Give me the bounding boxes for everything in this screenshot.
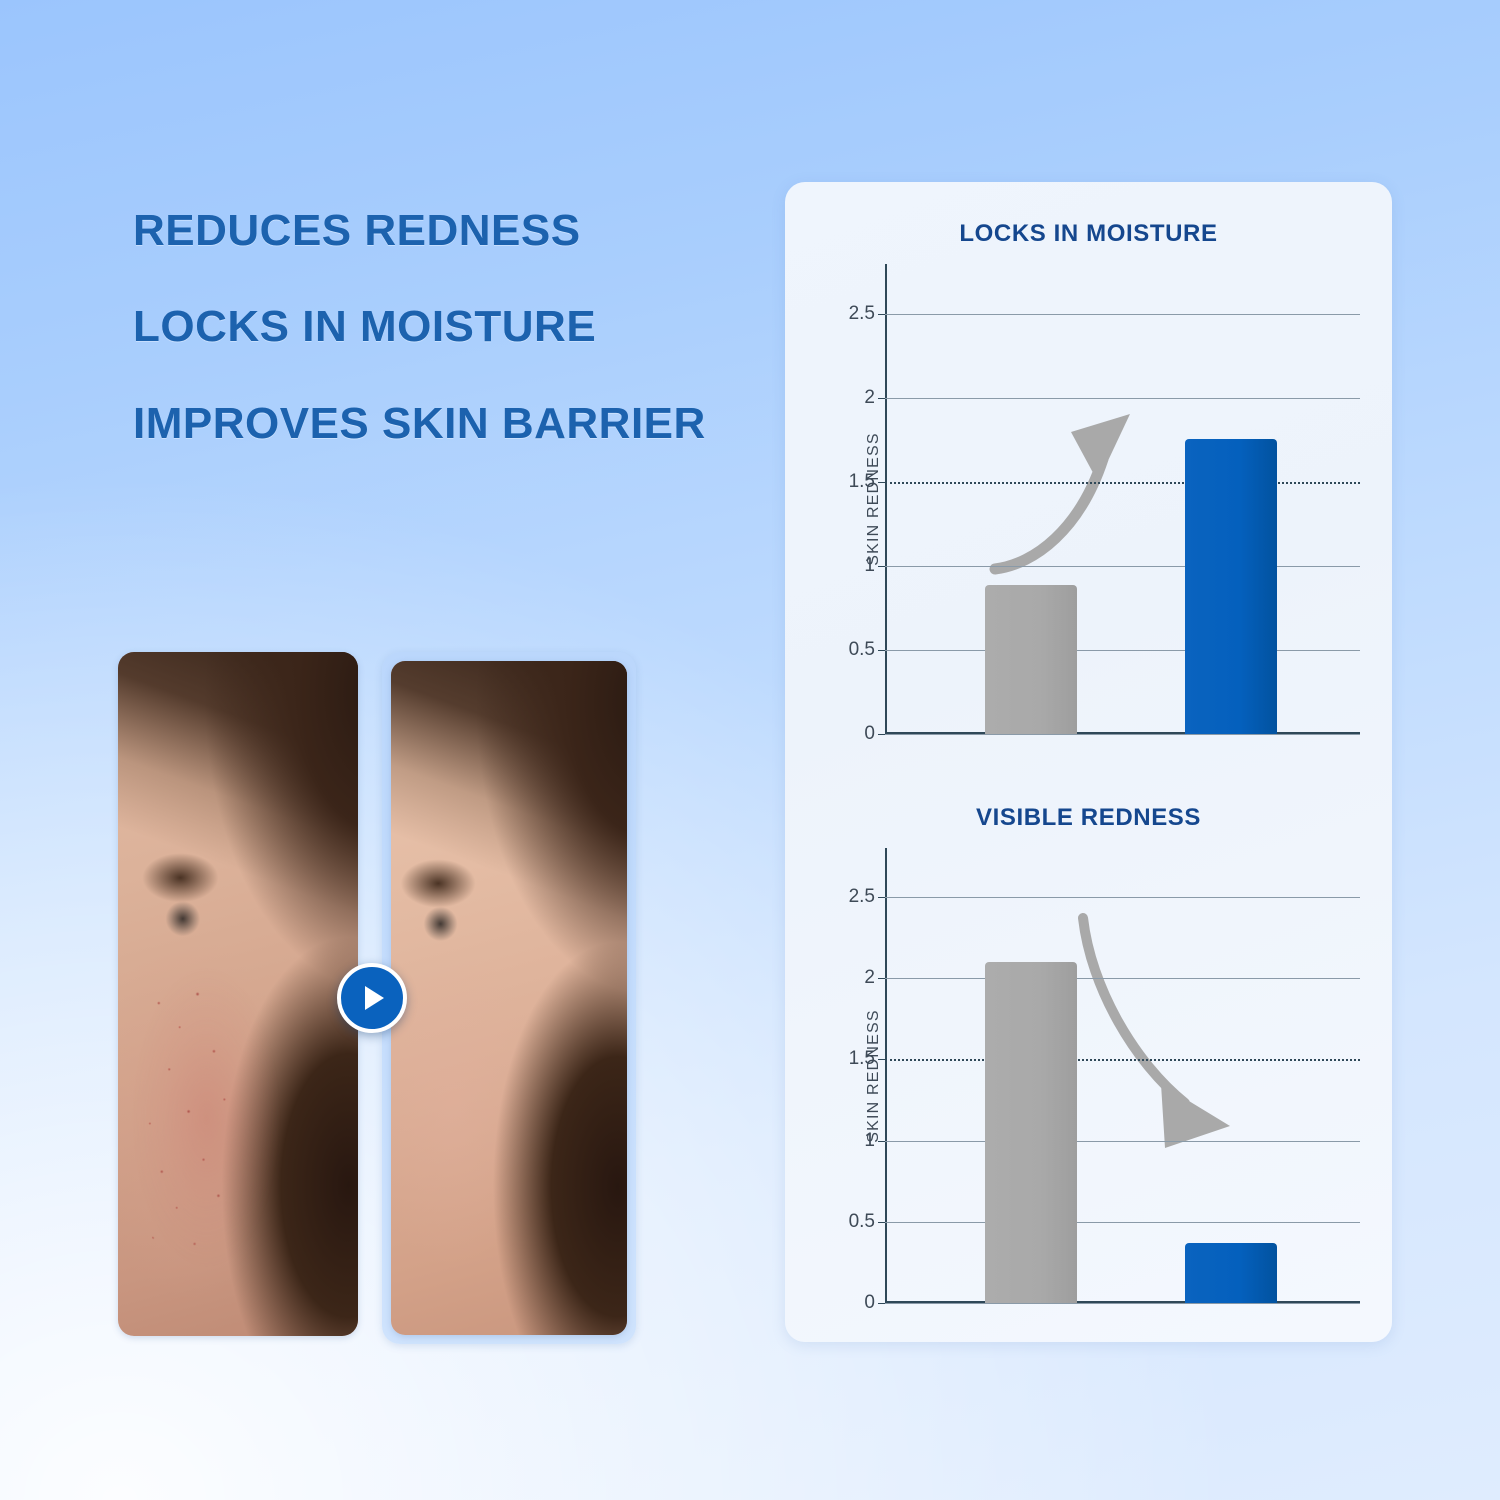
face-clear-skin-image bbox=[391, 661, 627, 1335]
chart-2-tick-mark bbox=[878, 1303, 885, 1304]
chart-1-tick-mark bbox=[878, 482, 885, 483]
before-photo-panel bbox=[118, 652, 358, 1336]
chart-2-y-tick-label: 1.5 bbox=[849, 1048, 875, 1070]
chart-2-y-tick-label: 0.5 bbox=[849, 1211, 875, 1233]
chart-2-tick-mark bbox=[878, 897, 885, 898]
charts-panel: LOCKS IN MOISTURE SKIN REDNESS 00.511.52… bbox=[785, 182, 1392, 1342]
chart-2-y-axis bbox=[885, 848, 887, 1303]
play-icon[interactable] bbox=[337, 963, 407, 1033]
chart-2-y-tick-label: 2.5 bbox=[849, 886, 875, 908]
play-triangle bbox=[365, 986, 384, 1010]
chart-1-tick-mark bbox=[878, 566, 885, 567]
chart-1-y-tick-label: 1.5 bbox=[849, 471, 875, 493]
chart-1-trend-arrow-up bbox=[885, 264, 1360, 734]
chart-1-plot-area: SKIN REDNESS 00.511.522.5 bbox=[885, 264, 1360, 734]
chart-2-tick-mark bbox=[878, 1141, 885, 1142]
chart-2-y-tick-label: 2 bbox=[864, 967, 875, 989]
chart-1-y-tick-label: 0.5 bbox=[849, 639, 875, 661]
after-photo-panel bbox=[382, 652, 636, 1344]
chart-1-tick-mark bbox=[878, 314, 885, 315]
chart-1-bar-before bbox=[985, 585, 1077, 734]
benefit-item-2: LOCKS IN MOISTURE bbox=[133, 302, 733, 351]
chart-1-y-tick-label: 2 bbox=[864, 387, 875, 409]
chart-1-gridline bbox=[885, 314, 1360, 315]
before-photo bbox=[118, 652, 358, 1336]
chart-1-y-axis-label: SKIN REDNESS bbox=[865, 432, 883, 566]
chart-2-tick-mark bbox=[878, 1222, 885, 1223]
chart-1-tick-mark bbox=[878, 398, 885, 399]
chart-2-y-tick-label: 1 bbox=[864, 1130, 875, 1152]
chart-1-gridline bbox=[885, 650, 1360, 651]
face-with-redness-image bbox=[118, 652, 358, 1336]
chart-1-title: LOCKS IN MOISTURE bbox=[785, 220, 1392, 248]
chart-2-trend-arrow-down bbox=[885, 848, 1360, 1303]
chart-2-bar-after bbox=[1185, 1243, 1277, 1303]
chart-locks-in-moisture: LOCKS IN MOISTURE SKIN REDNESS 00.511.52… bbox=[785, 206, 1392, 766]
chart-2-gridline bbox=[885, 1303, 1360, 1304]
chart-1-gridline bbox=[885, 566, 1360, 567]
chart-2-gridline bbox=[885, 978, 1360, 979]
chart-1-gridline bbox=[885, 734, 1360, 735]
benefit-item-1: REDUCES REDNESS bbox=[133, 206, 733, 255]
chart-2-tick-mark bbox=[878, 1059, 885, 1060]
chart-2-reference-line bbox=[885, 1059, 1360, 1061]
chart-2-tick-mark bbox=[878, 978, 885, 979]
chart-2-gridline bbox=[885, 1141, 1360, 1142]
chart-2-plot-area: SKIN REDNESS 00.511.522.5 bbox=[885, 848, 1360, 1303]
after-photo bbox=[391, 661, 627, 1335]
chart-visible-redness: VISIBLE REDNESS SKIN REDNESS 00.511.522.… bbox=[785, 792, 1392, 1332]
chart-2-gridline bbox=[885, 1222, 1360, 1223]
chart-1-gridline bbox=[885, 398, 1360, 399]
chart-2-y-tick-label: 0 bbox=[864, 1292, 875, 1314]
chart-2-gridline bbox=[885, 897, 1360, 898]
chart-1-tick-mark bbox=[878, 734, 885, 735]
benefit-item-3: IMPROVES SKIN BARRIER bbox=[133, 399, 733, 448]
chart-1-y-tick-label: 2.5 bbox=[849, 303, 875, 325]
chart-2-y-axis-label: SKIN REDNESS bbox=[865, 1009, 883, 1143]
chart-2-bar-before bbox=[985, 962, 1077, 1303]
chart-2-title: VISIBLE REDNESS bbox=[785, 804, 1392, 832]
chart-1-tick-mark bbox=[878, 650, 885, 651]
chart-1-y-axis bbox=[885, 264, 887, 734]
chart-1-reference-line bbox=[885, 482, 1360, 484]
benefits-list: REDUCES REDNESS LOCKS IN MOISTURE IMPROV… bbox=[133, 206, 733, 448]
chart-1-bar-after bbox=[1185, 439, 1277, 734]
chart-1-y-tick-label: 0 bbox=[864, 723, 875, 745]
chart-1-y-tick-label: 1 bbox=[864, 555, 875, 577]
